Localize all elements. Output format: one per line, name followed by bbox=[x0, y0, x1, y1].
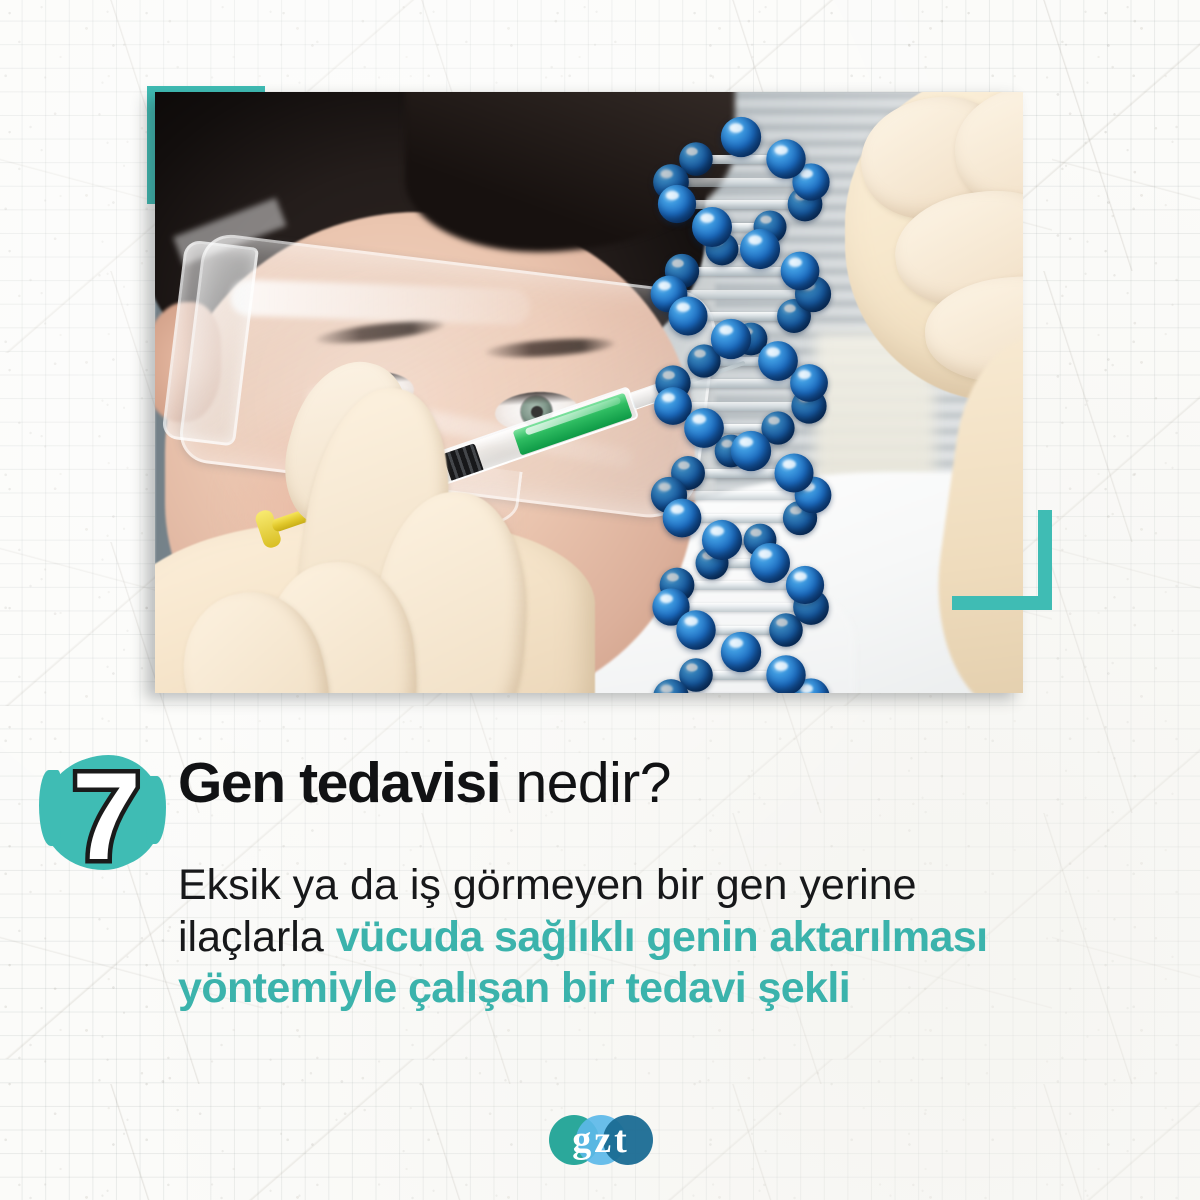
description-line-2-plain: ilaçlarla bbox=[178, 913, 336, 961]
description-line-3-highlight: yöntemiyle çalışan bir tedavi şekli bbox=[178, 964, 850, 1012]
dna-bead bbox=[658, 185, 696, 223]
description-line-3: yöntemiyle çalışan bir tedavi şekli bbox=[178, 963, 987, 1015]
dna-bead bbox=[663, 498, 702, 537]
dna-bead bbox=[721, 117, 761, 157]
number-badge: 7 bbox=[38, 748, 173, 883]
dna-rung bbox=[669, 491, 813, 500]
dna-bead bbox=[786, 566, 824, 604]
goggles-highlight-upper bbox=[230, 279, 531, 325]
hero-photo bbox=[155, 92, 1023, 693]
dna-bead bbox=[721, 632, 761, 672]
dna-bead bbox=[676, 610, 715, 649]
dna-bead bbox=[684, 408, 724, 448]
teal-corner-bracket-bottom-right bbox=[952, 510, 1052, 610]
dna-bead bbox=[731, 430, 771, 470]
gzt-logo[interactable]: gzt bbox=[547, 1109, 655, 1171]
description-line-1-text: Eksik ya da iş görmeyen bir gen yerine bbox=[178, 861, 917, 909]
dna-bead bbox=[767, 655, 806, 693]
dna-bead bbox=[740, 229, 780, 269]
dna-bead bbox=[780, 252, 819, 291]
dna-bead bbox=[692, 207, 732, 247]
title-regular-part: nedir? bbox=[500, 751, 671, 815]
description-text: Eksik ya da iş görmeyen bir gen yerine i… bbox=[178, 860, 987, 1015]
dna-bead bbox=[701, 520, 741, 560]
dna-bead bbox=[669, 297, 708, 336]
description-line-2: ilaçlarla vücuda sağlıklı genin aktarılm… bbox=[178, 912, 987, 964]
logo-wordmark: gzt bbox=[547, 1109, 655, 1171]
dna-rung bbox=[671, 178, 812, 187]
dna-rung bbox=[677, 200, 805, 209]
badge-number-text: 7 bbox=[38, 744, 173, 889]
description-line-1: Eksik ya da iş görmeyen bir gen yerine bbox=[178, 860, 987, 912]
dna-bead bbox=[750, 543, 790, 583]
description-line-2-highlight: vücuda sağlıklı genin aktarılması bbox=[336, 913, 988, 961]
syringe-stopper bbox=[442, 443, 484, 482]
dna-rung bbox=[673, 402, 809, 411]
page-title: Gen tedavisi nedir? bbox=[178, 754, 671, 813]
title-bold-part: Gen tedavisi bbox=[178, 751, 500, 815]
dna-bead bbox=[774, 453, 813, 492]
dna-bead bbox=[711, 318, 751, 358]
infographic-page: 7 Gen tedavisi nedir? Eksik ya da iş gör… bbox=[0, 0, 1200, 1200]
